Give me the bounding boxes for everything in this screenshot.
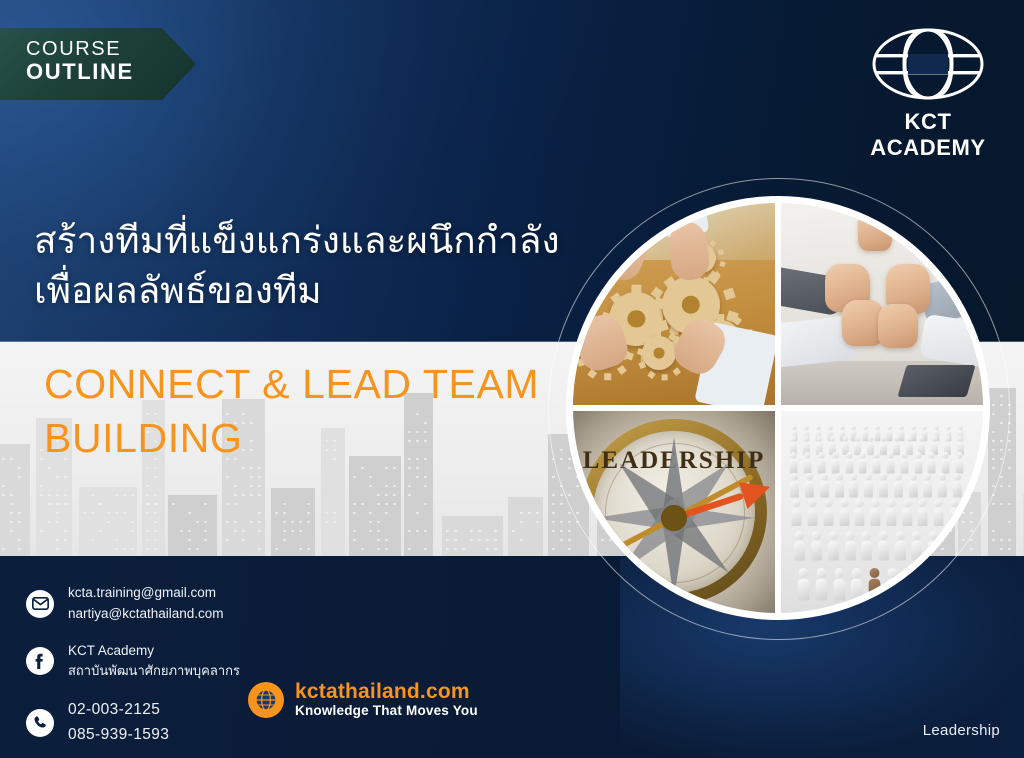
window: [10, 503, 13, 505]
window: [520, 539, 523, 541]
window: [408, 494, 411, 496]
window: [154, 503, 157, 505]
window: [552, 494, 555, 496]
window: [258, 494, 261, 496]
window: [478, 539, 481, 541]
window: [64, 494, 67, 496]
crowd-figure: [824, 499, 834, 526]
window: [454, 530, 457, 532]
window: [40, 530, 43, 532]
crowd-figure: [895, 531, 906, 561]
leadership-compass-photo: LEADERSHIP: [573, 411, 775, 613]
crowd-figure: [934, 499, 944, 526]
window: [470, 539, 473, 541]
crowd-figure: [869, 568, 881, 600]
crowd-figure: [902, 499, 912, 526]
globe-logo-icon: [868, 26, 988, 102]
window: [64, 530, 67, 532]
window: [1008, 485, 1011, 487]
window: [536, 521, 539, 523]
window: [307, 503, 310, 505]
crowd-figure: [858, 612, 871, 613]
window: [560, 494, 563, 496]
course-outline-poster: COURSE OUTLINE KCT ACADEMY สร้างทีมที่แข…: [0, 0, 1024, 758]
crowd-figure: [828, 531, 839, 561]
logo-wordmark: KCT ACADEMY: [846, 109, 1010, 161]
crowd-figure: [942, 452, 950, 474]
crowd-figure: [886, 568, 898, 600]
window: [275, 512, 278, 514]
window: [242, 530, 245, 532]
footer-category: Leadership: [923, 722, 1000, 739]
window: [1008, 521, 1011, 523]
badge-line-2: OUTLINE: [26, 60, 134, 85]
crowd-figure: [945, 531, 956, 561]
window: [204, 521, 207, 523]
window: [123, 512, 126, 514]
crowd-figure: [835, 473, 844, 497]
window: [56, 548, 59, 550]
contact-row-facebook: KCT Academy สถาบันพัฒนาศักยภาพบุคลากร: [26, 641, 356, 682]
window: [56, 539, 59, 541]
crowd-figure: [851, 568, 863, 600]
window: [1000, 485, 1003, 487]
thai-headline: สร้างทีมที่แข็งแกร่งและผนึกกำลัง เพื่อผล…: [34, 216, 594, 317]
window: [258, 548, 261, 550]
window: [353, 476, 356, 478]
window: [325, 521, 328, 523]
window: [1000, 476, 1003, 478]
gears-teamwork-photo: [573, 203, 775, 405]
window: [377, 494, 380, 496]
window: [172, 503, 175, 505]
window: [154, 512, 157, 514]
crowd-figure: [950, 499, 960, 526]
crowd-figure: [928, 452, 936, 474]
envelope-glyph: [32, 597, 49, 610]
window: [408, 548, 411, 550]
window: [385, 485, 388, 487]
window: [560, 521, 563, 523]
window: [560, 530, 563, 532]
window: [91, 539, 94, 541]
crowd-figure: [914, 612, 927, 613]
window: [353, 512, 356, 514]
crowd-figure: [861, 531, 872, 561]
crowd-figure: [821, 612, 834, 613]
window: [1000, 548, 1003, 550]
window: [154, 494, 157, 496]
window: [154, 530, 157, 532]
window: [234, 494, 237, 496]
contact-row-email: kcta.training@gmail.com nartiya@kctathai…: [26, 583, 356, 625]
collage-grid: LEADERSHIP: [573, 203, 983, 613]
window: [83, 512, 86, 514]
email-text: kcta.training@gmail.com nartiya@kctathai…: [68, 583, 224, 625]
window: [385, 494, 388, 496]
email-secondary[interactable]: nartiya@kctathailand.com: [68, 604, 224, 625]
gear-tooth: [632, 285, 641, 294]
crowd-figure: [790, 473, 799, 497]
window: [361, 503, 364, 505]
window: [242, 494, 245, 496]
window: [552, 521, 555, 523]
window: [196, 548, 199, 550]
window: [10, 512, 13, 514]
window: [107, 521, 110, 523]
crowd-figure: [873, 452, 881, 474]
window: [283, 512, 286, 514]
window: [131, 548, 134, 550]
email-icon[interactable]: [26, 590, 54, 618]
window: [204, 503, 207, 505]
window: [258, 485, 261, 487]
window: [1008, 548, 1011, 550]
window: [408, 485, 411, 487]
window: [478, 530, 481, 532]
window: [416, 530, 419, 532]
window: [325, 512, 328, 514]
gear-tooth: [709, 240, 716, 247]
crowd-figure: [864, 473, 873, 497]
window: [446, 539, 449, 541]
window: [454, 548, 457, 550]
window: [424, 503, 427, 505]
thai-headline-line-2: เพื่อผลลัพธ์ของทีม: [34, 266, 594, 316]
window: [250, 467, 253, 469]
window: [40, 458, 43, 460]
window: [385, 539, 388, 541]
compass-star: [573, 411, 775, 613]
window: [1000, 503, 1003, 505]
window: [250, 485, 253, 487]
window: [528, 512, 531, 514]
window: [1008, 503, 1011, 505]
badge-line-1: COURSE: [26, 38, 134, 60]
crowd-red-figure-photo: [781, 411, 983, 613]
building: [508, 497, 543, 556]
window: [196, 521, 199, 523]
fist-bump-photo: [781, 203, 983, 405]
crowd-figure: [918, 499, 928, 526]
window: [275, 548, 278, 550]
window: [1008, 440, 1011, 442]
window: [146, 539, 149, 541]
window: [115, 548, 118, 550]
window: [992, 503, 995, 505]
window: [353, 530, 356, 532]
window: [188, 512, 191, 514]
window: [424, 548, 427, 550]
crowd-figure: [816, 568, 828, 600]
crowd-figure: [840, 612, 853, 613]
window: [18, 476, 21, 478]
badge-text: COURSE OUTLINE: [26, 38, 134, 85]
phone-secondary[interactable]: 085-939-1593: [68, 723, 169, 748]
window: [146, 548, 149, 550]
window: [107, 512, 110, 514]
crowd-figure: [914, 452, 922, 474]
window: [10, 494, 13, 496]
window: [552, 548, 555, 550]
window: [258, 512, 261, 514]
phone-icon[interactable]: [26, 709, 54, 737]
gear-tooth: [643, 336, 651, 344]
window: [48, 467, 51, 469]
window: [299, 530, 302, 532]
fist: [858, 211, 892, 251]
window: [353, 503, 356, 505]
window: [361, 467, 364, 469]
window: [470, 530, 473, 532]
window: [512, 530, 515, 532]
crowd-figure: [805, 473, 814, 497]
window: [234, 485, 237, 487]
crowd-figure: [871, 499, 881, 526]
crowd-figure: [808, 499, 818, 526]
window: [123, 494, 126, 496]
crowd-figure: [792, 499, 802, 526]
crowd-figure: [900, 452, 908, 474]
window: [385, 548, 388, 550]
window: [454, 539, 457, 541]
window: [283, 530, 286, 532]
window: [1000, 539, 1003, 541]
crowd-figure: [845, 531, 856, 561]
globe-icon: [248, 682, 284, 718]
gear-tooth: [717, 314, 724, 321]
window: [226, 521, 229, 523]
window: [18, 512, 21, 514]
window: [393, 485, 396, 487]
window: [48, 503, 51, 505]
window: [494, 548, 497, 550]
crowd-figure: [804, 452, 812, 474]
crowd-figure: [845, 452, 853, 474]
crowd-figure: [878, 531, 889, 561]
crowd-figure: [953, 473, 962, 497]
window: [992, 539, 995, 541]
facebook-text: KCT Academy สถาบันพัฒนาศักยภาพบุคลากร: [68, 641, 240, 682]
website-domain[interactable]: kctathailand.com: [295, 681, 478, 703]
window: [226, 503, 229, 505]
tablet: [898, 365, 976, 397]
window: [283, 521, 286, 523]
window: [1008, 539, 1011, 541]
window: [131, 494, 134, 496]
photo-collage: LEADERSHIP: [566, 196, 990, 620]
course-outline-badge: COURSE OUTLINE: [0, 28, 196, 100]
window: [992, 530, 995, 532]
window: [369, 512, 372, 514]
window: [2, 494, 5, 496]
window: [18, 521, 21, 523]
window: [494, 530, 497, 532]
window: [18, 548, 21, 550]
crowd-figure: [886, 452, 894, 474]
window: [242, 539, 245, 541]
window: [1008, 449, 1011, 451]
window: [40, 449, 43, 451]
window: [536, 512, 539, 514]
window: [64, 503, 67, 505]
window: [333, 521, 336, 523]
window: [18, 539, 21, 541]
crowd-figure: [802, 612, 815, 613]
window: [250, 521, 253, 523]
window: [40, 494, 43, 496]
crowd-figure: [928, 531, 939, 561]
window: [2, 485, 5, 487]
window: [446, 548, 449, 550]
window: [10, 521, 13, 523]
crowd-figure: [855, 499, 865, 526]
crowd-figure: [859, 452, 867, 474]
window: [180, 530, 183, 532]
globe-glyph: [254, 688, 278, 712]
window: [234, 521, 237, 523]
gear-tooth: [718, 249, 724, 255]
crowd-figure: [798, 568, 810, 600]
crowd-figure: [879, 473, 888, 497]
gear-tooth: [662, 375, 668, 381]
window: [353, 539, 356, 541]
window: [1008, 467, 1011, 469]
window: [154, 548, 157, 550]
window: [146, 530, 149, 532]
window: [10, 530, 13, 532]
window: [416, 476, 419, 478]
window: [48, 494, 51, 496]
window: [226, 539, 229, 541]
window: [56, 494, 59, 496]
window: [64, 476, 67, 478]
window: [188, 548, 191, 550]
window: [283, 503, 286, 505]
window: [416, 512, 419, 514]
contact-list: kcta.training@gmail.com nartiya@kctathai…: [26, 583, 356, 758]
course-title: CONNECT & LEAD TEAM BUILDING: [44, 357, 584, 465]
crowd-figure: [887, 499, 897, 526]
building: [442, 516, 503, 556]
phone-glyph: [32, 715, 48, 731]
window: [91, 512, 94, 514]
window: [56, 476, 59, 478]
crowd-figure: [831, 452, 839, 474]
window: [146, 485, 149, 487]
window: [99, 530, 102, 532]
gear-tooth: [656, 332, 662, 338]
window: [393, 467, 396, 469]
window: [424, 485, 427, 487]
window: [369, 521, 372, 523]
window: [56, 503, 59, 505]
crowd-figure: [877, 612, 890, 613]
window: [146, 467, 149, 469]
window: [115, 539, 118, 541]
window: [48, 521, 51, 523]
window: [494, 539, 497, 541]
window: [377, 548, 380, 550]
window: [154, 539, 157, 541]
website-tagline: Knowledge That Moves You: [295, 703, 478, 718]
crowd-figure: [909, 473, 918, 497]
window: [560, 503, 563, 505]
window: [258, 467, 261, 469]
window: [146, 503, 149, 505]
window: [408, 530, 411, 532]
window: [115, 512, 118, 514]
window: [154, 467, 157, 469]
window: [424, 530, 427, 532]
window: [369, 476, 372, 478]
window: [146, 512, 149, 514]
window: [393, 503, 396, 505]
window: [307, 521, 310, 523]
window: [258, 530, 261, 532]
window: [10, 458, 13, 460]
window: [123, 548, 126, 550]
window: [377, 539, 380, 541]
email-primary[interactable]: kcta.training@gmail.com: [68, 583, 224, 604]
building: [168, 495, 217, 556]
facebook-glyph: [26, 647, 54, 675]
window: [154, 521, 157, 523]
website-logo[interactable]: kctathailand.com Knowledge That Moves Yo…: [248, 681, 478, 718]
window: [188, 539, 191, 541]
window: [283, 539, 286, 541]
window: [115, 494, 118, 496]
window: [299, 548, 302, 550]
window: [234, 503, 237, 505]
crowd-figure: [955, 452, 963, 474]
crowd-figure: [795, 531, 806, 561]
window: [234, 530, 237, 532]
window: [91, 494, 94, 496]
window: [291, 530, 294, 532]
window: [416, 467, 419, 469]
crowd-figure: [940, 568, 952, 600]
window: [250, 494, 253, 496]
window: [462, 548, 465, 550]
window: [552, 530, 555, 532]
crowd-figure: [850, 473, 859, 497]
gear: [642, 336, 676, 370]
window: [520, 512, 523, 514]
window: [393, 494, 396, 496]
building: [0, 444, 30, 556]
crowd-figure: [938, 473, 947, 497]
window: [552, 503, 555, 505]
fist: [878, 304, 918, 348]
crowd-figure: [790, 452, 798, 474]
facebook-page-name[interactable]: KCT Academy: [68, 641, 240, 662]
window: [204, 539, 207, 541]
facebook-icon[interactable]: [26, 647, 54, 675]
window: [242, 467, 245, 469]
window: [40, 485, 43, 487]
window: [56, 512, 59, 514]
window: [446, 530, 449, 532]
crowd-figure: [886, 425, 892, 441]
window: [56, 521, 59, 523]
phone-primary[interactable]: 02-003-2125: [68, 698, 169, 723]
crowd-figure: [922, 568, 934, 600]
phone-text: 02-003-2125 085-939-1593: [68, 698, 169, 748]
window: [385, 467, 388, 469]
crowd-figure: [820, 473, 829, 497]
crowd-figure: [833, 568, 845, 600]
